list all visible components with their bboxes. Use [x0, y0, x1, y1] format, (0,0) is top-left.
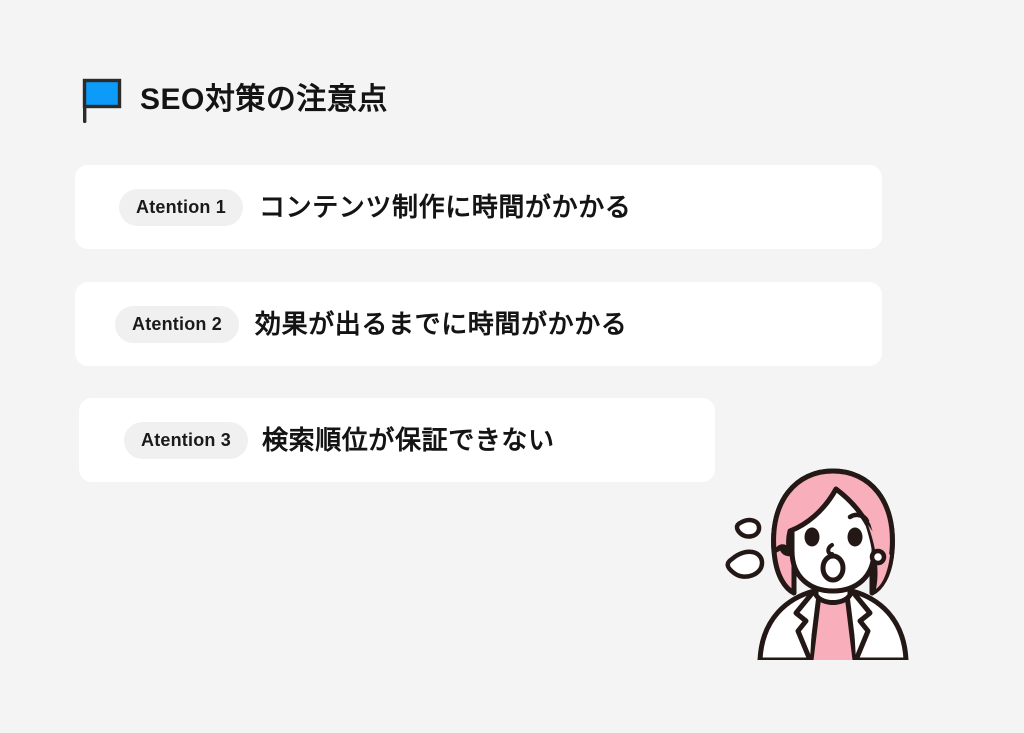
page-title-row: SEO対策の注意点 [80, 76, 388, 124]
page-title: SEO対策の注意点 [140, 85, 388, 115]
right-eye [848, 528, 863, 547]
flag-icon [80, 76, 124, 124]
worried-woman-illustration [722, 455, 944, 660]
attention-card-3: Atention 3 検索順位が保証できない [79, 398, 715, 482]
attention-card-1: Atention 1 コンテンツ制作に時間がかかる [75, 165, 882, 249]
earring [872, 551, 884, 563]
attention-text-2: 効果が出るまでに時間がかかる [255, 310, 627, 339]
sweat-drop-small [737, 520, 759, 536]
attention-text-3: 検索順位が保証できない [262, 426, 555, 455]
attention-badge-1: Atention 1 [119, 189, 243, 226]
attention-badge-3: Atention 3 [124, 422, 248, 459]
attention-card-2: Atention 2 効果が出るまでに時間がかかる [75, 282, 882, 366]
attention-text-1: コンテンツ制作に時間がかかる [259, 193, 631, 222]
left-eye [805, 528, 820, 547]
sweat-drop-large [728, 552, 762, 577]
mouth [823, 556, 843, 580]
attention-badge-2: Atention 2 [115, 306, 239, 343]
